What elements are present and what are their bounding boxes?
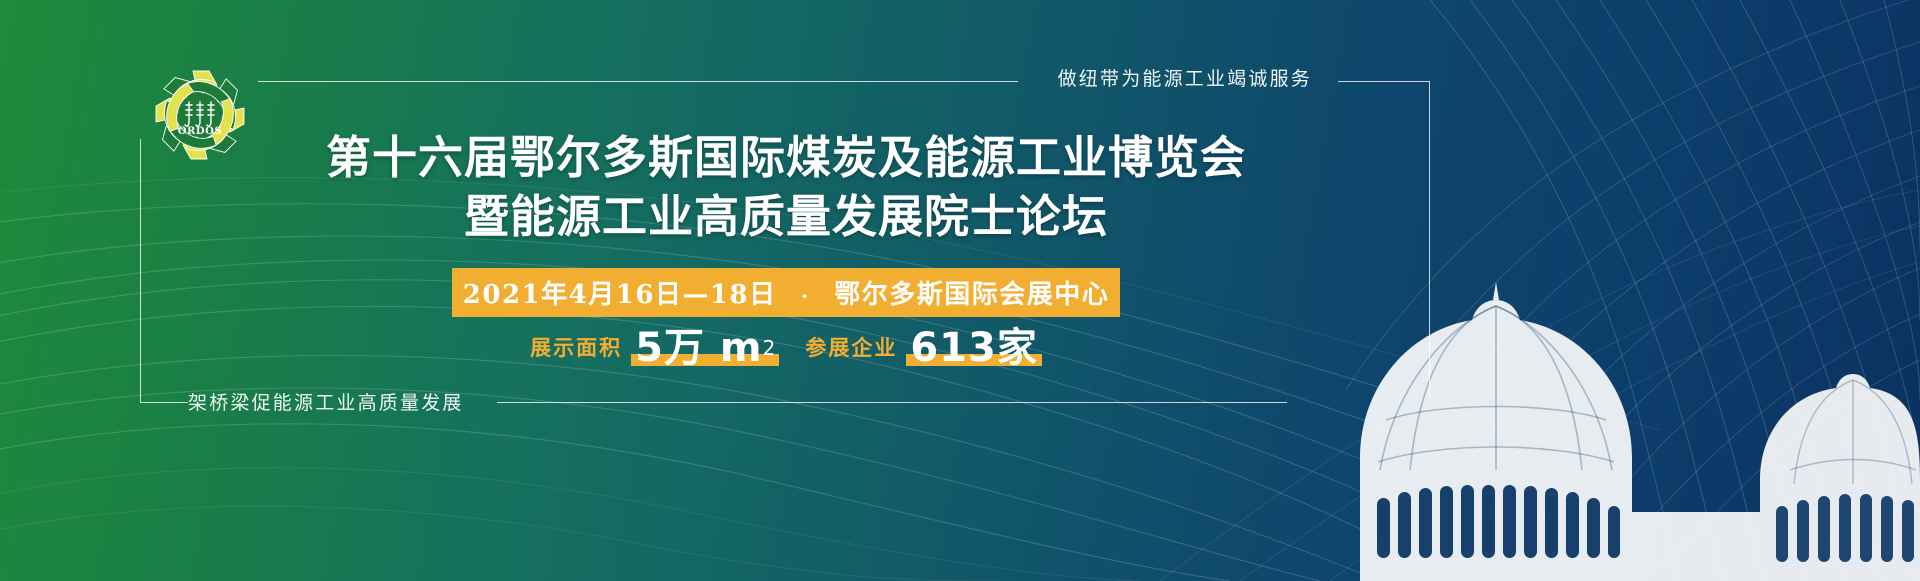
frame-line-bottom-stub <box>140 402 188 403</box>
page-title-line2: 暨能源工业高质量发展院士论坛 <box>0 190 1572 243</box>
title-block: 第十六届鄂尔多斯国际煤炭及能源工业博览会 暨能源工业高质量发展院士论坛 <box>0 131 1572 243</box>
stat-highlight: 613家 <box>906 328 1042 368</box>
page-title-line1: 第十六届鄂尔多斯国际煤炭及能源工业博览会 <box>0 131 1572 184</box>
stat-value: 5万 m <box>635 325 762 371</box>
stat-label: 参展企业 <box>805 332 897 368</box>
frame-line-top-right <box>1338 81 1430 82</box>
frame-line-top-left <box>258 81 1018 82</box>
separator-dot: · <box>787 284 823 308</box>
frame-line-bottom <box>497 402 1287 403</box>
stats-row: 展示面积 5万 m2 参展企业 613家 <box>452 328 1120 368</box>
stat-value: 613家 <box>910 325 1038 371</box>
date-venue-bar: 2021年4月16日—18日 · 鄂尔多斯国际会展中心 <box>452 268 1120 317</box>
stat-exhibition-area: 展示面积 5万 m2 <box>530 328 779 368</box>
expo-banner: ORDOS 做纽带为能源工业竭诚服务 架桥梁促能源工业高质量发展 第十六届鄂尔多… <box>0 0 1920 581</box>
stat-highlight: 5万 m2 <box>631 328 779 368</box>
event-venue: 鄂尔多斯国际会展中心 <box>834 280 1109 310</box>
stat-label: 展示面积 <box>530 332 622 368</box>
stat-exhibitor-count: 参展企业 613家 <box>805 328 1042 368</box>
stat-superscript: 2 <box>763 336 776 360</box>
event-date: 2021年4月16日—18日 <box>463 280 777 310</box>
date-venue-text: 2021年4月16日—18日 · 鄂尔多斯国际会展中心 <box>463 274 1109 311</box>
tagline-bottom-left: 架桥梁促能源工业高质量发展 <box>188 388 464 415</box>
tagline-top-right: 做纽带为能源工业竭诚服务 <box>1058 64 1312 91</box>
